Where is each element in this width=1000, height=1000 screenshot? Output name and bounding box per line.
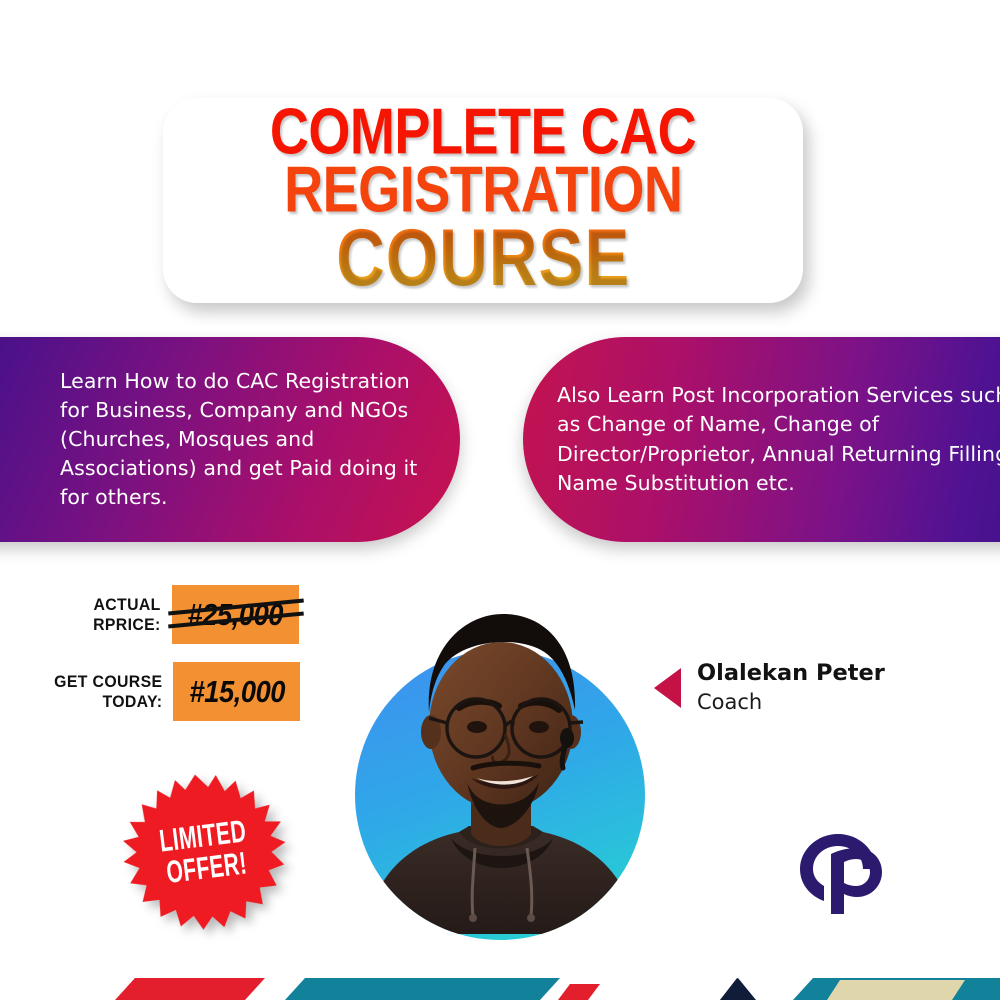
price-label-today-line2: TODAY: (54, 692, 162, 711)
title-sticker: COMPLETE CAC REGISTRATION COURSE (163, 98, 803, 303)
price-label-actual-line1: ACTUAL (93, 595, 161, 614)
coach-role-label: Coach (697, 689, 885, 715)
coach-name-label: Olalekan Peter (697, 660, 885, 687)
bottom-decorative-strip (0, 958, 1000, 1000)
title-line-3: COURSE (336, 220, 630, 294)
banner-right: Also Learn Post Incorporation Services s… (523, 337, 1000, 542)
coach-name-block: Olalekan Peter Coach (654, 660, 885, 715)
strip-shape-tan (827, 980, 965, 1000)
strip-shape-red-small (558, 984, 600, 1000)
coach-photo (355, 586, 647, 934)
price-row-today: GET COURSE TODAY: #15,000 (46, 662, 300, 721)
banner-left-text: Learn How to do CAC Registration for Bus… (60, 367, 420, 513)
price-box-today: #15,000 (173, 662, 300, 721)
strip-shapes (0, 958, 1000, 1000)
coach-portrait (355, 586, 647, 934)
strip-shape-navy-2 (720, 978, 756, 1000)
starburst-icon (113, 763, 296, 942)
brand-logo (791, 824, 891, 916)
triangle-pointer-icon (654, 668, 681, 708)
price-label-today-line1: GET COURSE (54, 672, 162, 691)
price-label-actual-line2: RPRICE: (93, 615, 161, 634)
price-box-actual: #25,000 (172, 585, 299, 644)
strip-shape-teal-1 (285, 978, 560, 1000)
strip-shape-red (115, 978, 265, 1000)
price-label-actual: ACTUAL RPRICE: (93, 595, 161, 634)
price-label-today: GET COURSE TODAY: (54, 672, 162, 711)
limited-offer-badge: LIMITED OFFER! (113, 763, 296, 942)
poster-canvas: COMPLETE CAC REGISTRATION COURSE Learn H… (0, 0, 1000, 1000)
coach-text: Olalekan Peter Coach (697, 660, 885, 715)
price-row-actual: ACTUAL RPRICE: #25,000 (88, 585, 299, 644)
brand-logo-icon (791, 824, 891, 916)
price-value-today: #15,000 (189, 674, 285, 710)
banner-left: Learn How to do CAC Registration for Bus… (0, 337, 460, 542)
banner-right-text: Also Learn Post Incorporation Services s… (557, 381, 1000, 497)
